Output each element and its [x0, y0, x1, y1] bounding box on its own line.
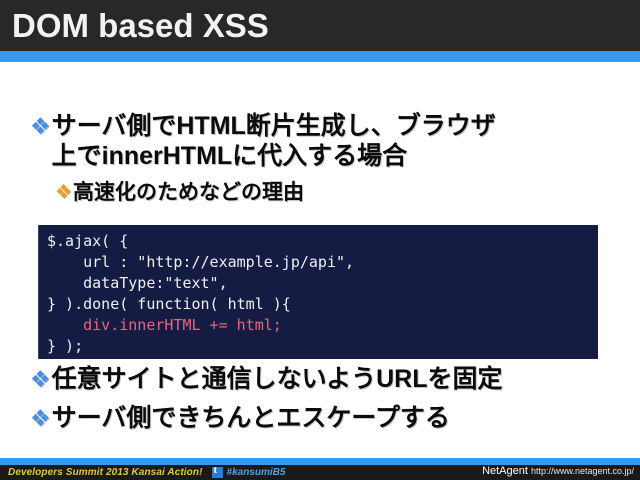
bullet-server-side-escape: ❖ サーバ側できちんとエスケープする: [30, 403, 450, 433]
diamond-bullet-icon: ❖: [30, 111, 51, 141]
diamond-bullet-icon: ❖: [30, 364, 51, 394]
footer-event-name: Developers Summit 2013 Kansai Action!: [8, 467, 203, 478]
page-title: DOM based XSS: [12, 6, 269, 46]
code-block: $.ajax( { url : "http://example.jp/api",…: [38, 225, 598, 359]
bullet-fix-url: ❖ 任意サイトと通信しないようURLを固定: [30, 364, 503, 394]
code-line: $.ajax( {: [47, 231, 598, 252]
diamond-bullet-icon: ❖: [30, 403, 51, 433]
bullet-text: サーバ側でHTML断片生成し、ブラウザ 上でinnerHTMLに代入する場合: [52, 111, 496, 171]
code-line: } );: [47, 336, 598, 357]
diamond-bullet-icon: ❖: [55, 180, 72, 206]
code-line-highlighted: div.innerHTML += html;: [47, 315, 598, 336]
bullet-text: 高速化のためなどの理由: [73, 180, 304, 206]
header-accent-rule: [0, 51, 640, 62]
footer-accent-rule: [0, 458, 640, 465]
footer-hashtag[interactable]: #kansumiB5: [227, 467, 286, 478]
twitter-icon[interactable]: [212, 467, 223, 478]
footer-left-group: Developers Summit 2013 Kansai Action! #k…: [8, 465, 285, 480]
code-line: } ).done( function( html ){: [47, 294, 598, 315]
bullet-text: 任意サイトと通信しないようURLを固定: [52, 364, 503, 394]
bullet-text: サーバ側できちんとエスケープする: [52, 403, 450, 433]
code-line: url : "http://example.jp/api",: [47, 252, 598, 273]
bullet-line-1: サーバ側でHTML断片生成し、ブラウザ: [52, 112, 496, 140]
slide-header: DOM based XSS: [0, 0, 640, 51]
footer-bar: Developers Summit 2013 Kansai Action! #k…: [0, 465, 640, 480]
bullet-server-side-html-fragment: ❖ サーバ側でHTML断片生成し、ブラウザ 上でinnerHTMLに代入する場合: [30, 111, 496, 171]
code-line: dataType:"text",: [47, 273, 598, 294]
slide-body: ❖ サーバ側でHTML断片生成し、ブラウザ 上でinnerHTMLに代入する場合…: [0, 62, 640, 458]
footer-brand-url[interactable]: http://www.netagent.co.jp/: [531, 466, 634, 476]
bullet-speedup-reason: ❖ 高速化のためなどの理由: [55, 180, 304, 206]
footer-right-group: NetAgent http://www.netagent.co.jp/: [482, 465, 634, 480]
footer-brand-name: NetAgent: [482, 465, 528, 477]
bullet-line-2: 上でinnerHTMLに代入する場合: [52, 141, 496, 171]
